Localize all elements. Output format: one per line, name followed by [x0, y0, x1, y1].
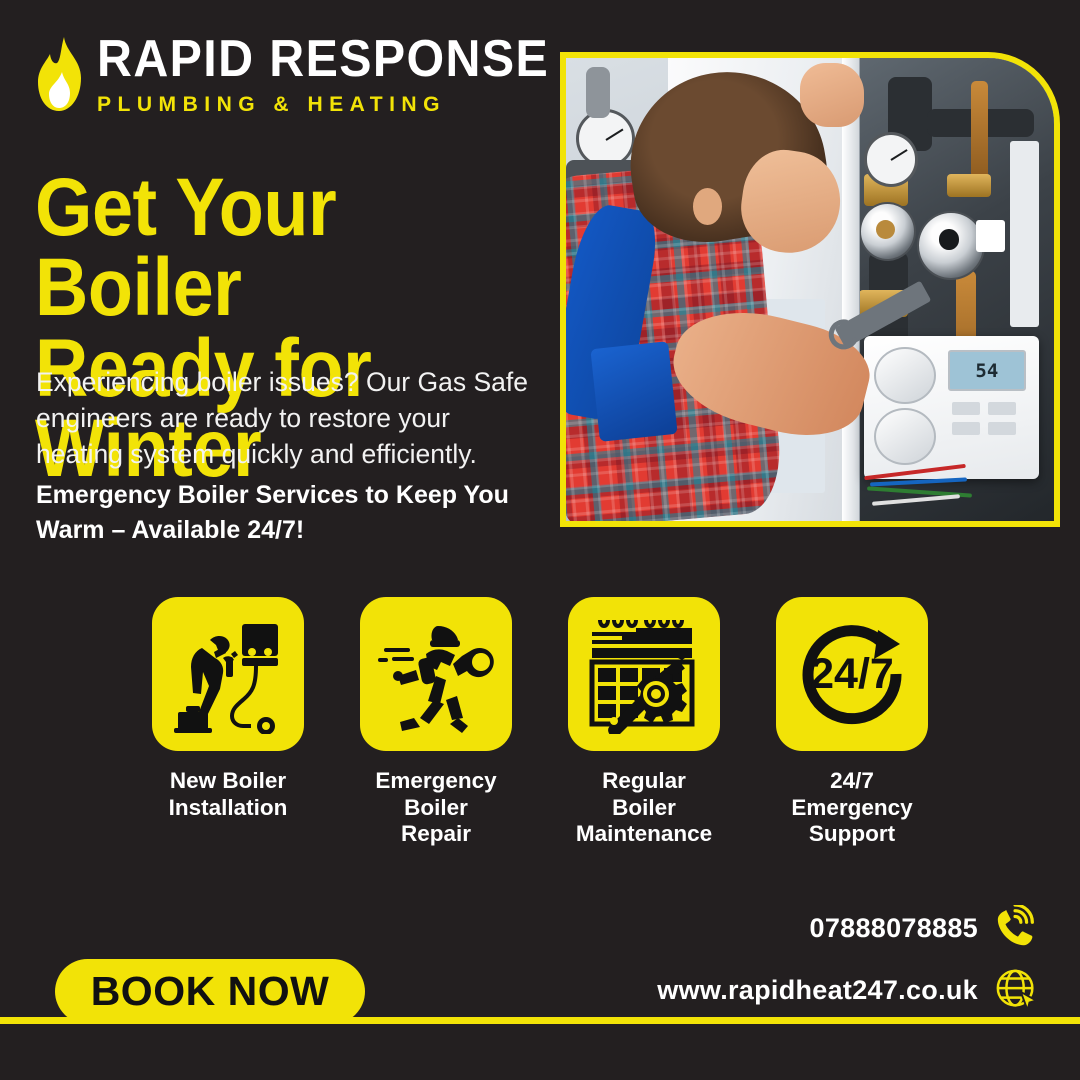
services-row: New Boiler Installation — [152, 597, 928, 848]
service-tile — [152, 597, 304, 751]
phone-row[interactable]: 07888078885 — [810, 905, 1040, 951]
boiler-thermostat: 54 — [864, 336, 1040, 480]
globe-cursor-icon — [994, 967, 1040, 1013]
service-label: 24/7 Emergency Support — [776, 768, 928, 848]
service-item-regular-boiler-maintenance[interactable]: Regular Boiler Maintenance — [568, 597, 720, 848]
24-7-arrow-icon: 24/7 — [792, 614, 912, 734]
hero-photo-frame: 54 — [560, 52, 1060, 527]
service-tile — [568, 597, 720, 751]
thermostat-reading: 54 — [948, 350, 1026, 391]
contact-block: 07888078885 www.rapidheat247.co.uk — [657, 905, 1040, 1013]
book-now-button[interactable]: BOOK NOW — [55, 959, 365, 1024]
service-label: Regular Boiler Maintenance — [568, 768, 720, 848]
phone-ringing-icon — [994, 905, 1040, 951]
logo-tagline: PLUMBING & HEATING — [97, 94, 573, 116]
book-now-label: BOOK NOW — [91, 968, 330, 1015]
phone-number: 07888078885 — [810, 913, 978, 944]
website-url: www.rapidheat247.co.uk — [657, 975, 978, 1006]
hero-photo: 54 — [566, 58, 1054, 521]
service-label: Emergency Boiler Repair — [360, 768, 512, 848]
body-emphasis: Emergency Boiler Services to Keep You Wa… — [36, 478, 541, 547]
service-item-24-7-emergency-support[interactable]: 24/7 24/7 Emergency Support — [776, 597, 928, 848]
brand-logo: RAPID RESPONSE PLUMBING & HEATING — [37, 33, 583, 116]
calendar-wrench-gear-icon — [584, 614, 704, 734]
running-engineer-wrench-icon — [376, 614, 496, 734]
svg-text:24/7: 24/7 — [810, 650, 894, 698]
flame-icon — [37, 36, 83, 112]
logo-company-name: RAPID RESPONSE — [97, 33, 549, 85]
headline-line-1: Get Your Boiler — [35, 168, 503, 329]
service-label: New Boiler Installation — [169, 768, 288, 821]
service-tile: 24/7 — [776, 597, 928, 751]
service-tile — [360, 597, 512, 751]
service-item-new-boiler-installation[interactable]: New Boiler Installation — [152, 597, 304, 848]
boiler-installation-icon — [168, 614, 288, 734]
poster-canvas: RAPID RESPONSE PLUMBING & HEATING Get Yo… — [0, 0, 1080, 1080]
body-paragraph: Experiencing boiler issues? Our Gas Safe… — [36, 364, 541, 472]
service-item-emergency-boiler-repair[interactable]: Emergency Boiler Repair — [360, 597, 512, 848]
website-row[interactable]: www.rapidheat247.co.uk — [657, 967, 1040, 1013]
